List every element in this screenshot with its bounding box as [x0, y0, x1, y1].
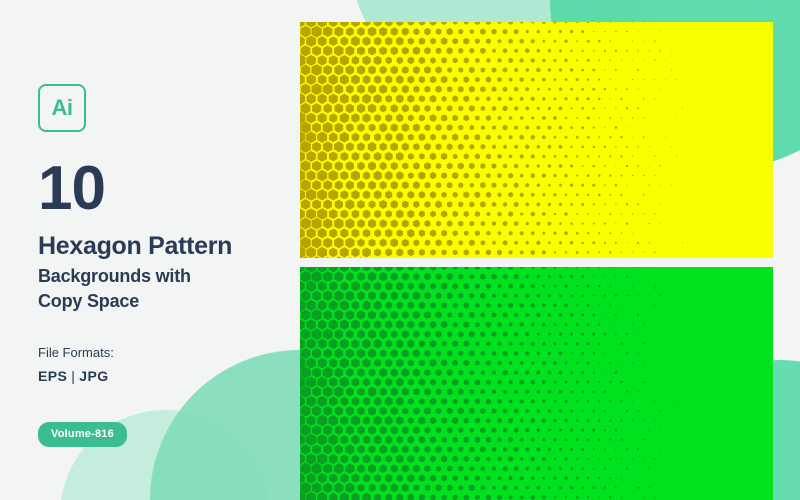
preview-thumbnail-green[interactable] [300, 267, 773, 500]
file-formats-label: File Formats: [38, 345, 288, 360]
info-panel: Ai 10 Hexagon Pattern Backgrounds with C… [38, 84, 288, 447]
subtitle-line-1: Backgrounds with [38, 265, 288, 288]
format-eps: EPS [38, 368, 67, 384]
green-hexagon-pattern-graphic [300, 267, 773, 500]
format-jpg: JPG [79, 368, 108, 384]
item-count: 10 [38, 158, 288, 220]
adobe-illustrator-icon: Ai [38, 84, 86, 132]
format-separator: | [67, 368, 79, 384]
poster-canvas: Ai 10 Hexagon Pattern Backgrounds with C… [0, 0, 800, 500]
page-title: Hexagon Pattern [38, 232, 288, 262]
subtitle-line-2: Copy Space [38, 290, 288, 313]
yellow-hexagon-pattern-graphic [300, 22, 773, 258]
preview-thumbnail-yellow[interactable] [300, 22, 773, 258]
file-formats-value: EPS|JPG [38, 368, 288, 384]
volume-badge: Volume-816 [38, 422, 127, 447]
adobe-illustrator-label: Ai [52, 97, 73, 119]
